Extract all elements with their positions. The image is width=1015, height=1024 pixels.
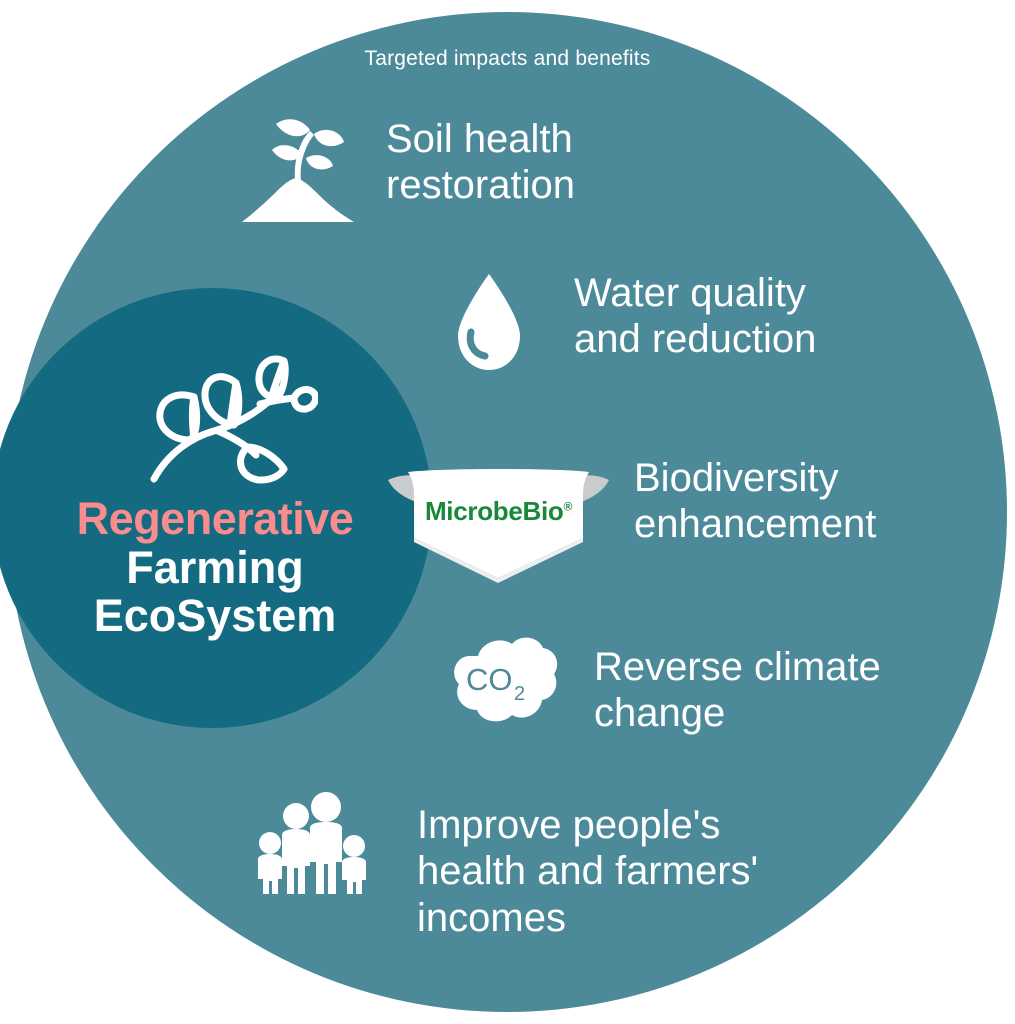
microbebio-name: MicrobeBio bbox=[425, 496, 564, 526]
microbebio-logo-banner: MicrobeBio® bbox=[386, 466, 611, 591]
core-title-line3: EcoSystem bbox=[0, 592, 430, 641]
benefit-label-climate: Reverse climate change bbox=[594, 644, 881, 737]
benefit-item-water: Water quality and reduction bbox=[452, 270, 816, 379]
benefit-item-climate: CO 2 Reverse climate change bbox=[444, 630, 881, 737]
core-title-line2: Farming bbox=[0, 544, 430, 593]
core-title: Regenerative Farming EcoSystem bbox=[0, 495, 430, 641]
benefit-label-biodiversity: Biodiversity enhancement bbox=[634, 455, 876, 548]
family-people-icon bbox=[252, 790, 377, 903]
benefit-item-biodiversity: Biodiversity enhancement bbox=[600, 455, 876, 548]
co2-cloud-icon: CO 2 bbox=[444, 630, 562, 735]
benefit-label-people: Improve people's health and farmers' inc… bbox=[417, 802, 758, 941]
benefit-item-soil: Soil health restoration bbox=[238, 110, 575, 233]
core-title-line1: Regenerative bbox=[0, 495, 430, 544]
infographic-canvas: Targeted impacts and benefits Regene bbox=[0, 0, 1015, 1024]
benefit-item-people: Improve people's health and farmers' inc… bbox=[252, 790, 758, 941]
page-title: Targeted impacts and benefits bbox=[0, 47, 1015, 71]
svg-text:2: 2 bbox=[514, 683, 525, 705]
seedling-soil-icon bbox=[238, 110, 358, 233]
microbebio-wordmark: MicrobeBio® bbox=[386, 496, 611, 527]
water-droplet-icon bbox=[452, 270, 526, 379]
leaf-branch-icon bbox=[148, 345, 318, 485]
benefit-label-soil: Soil health restoration bbox=[386, 116, 575, 209]
registered-trademark-icon: ® bbox=[564, 499, 573, 513]
benefit-label-water: Water quality and reduction bbox=[574, 270, 816, 363]
svg-text:CO: CO bbox=[466, 662, 513, 697]
